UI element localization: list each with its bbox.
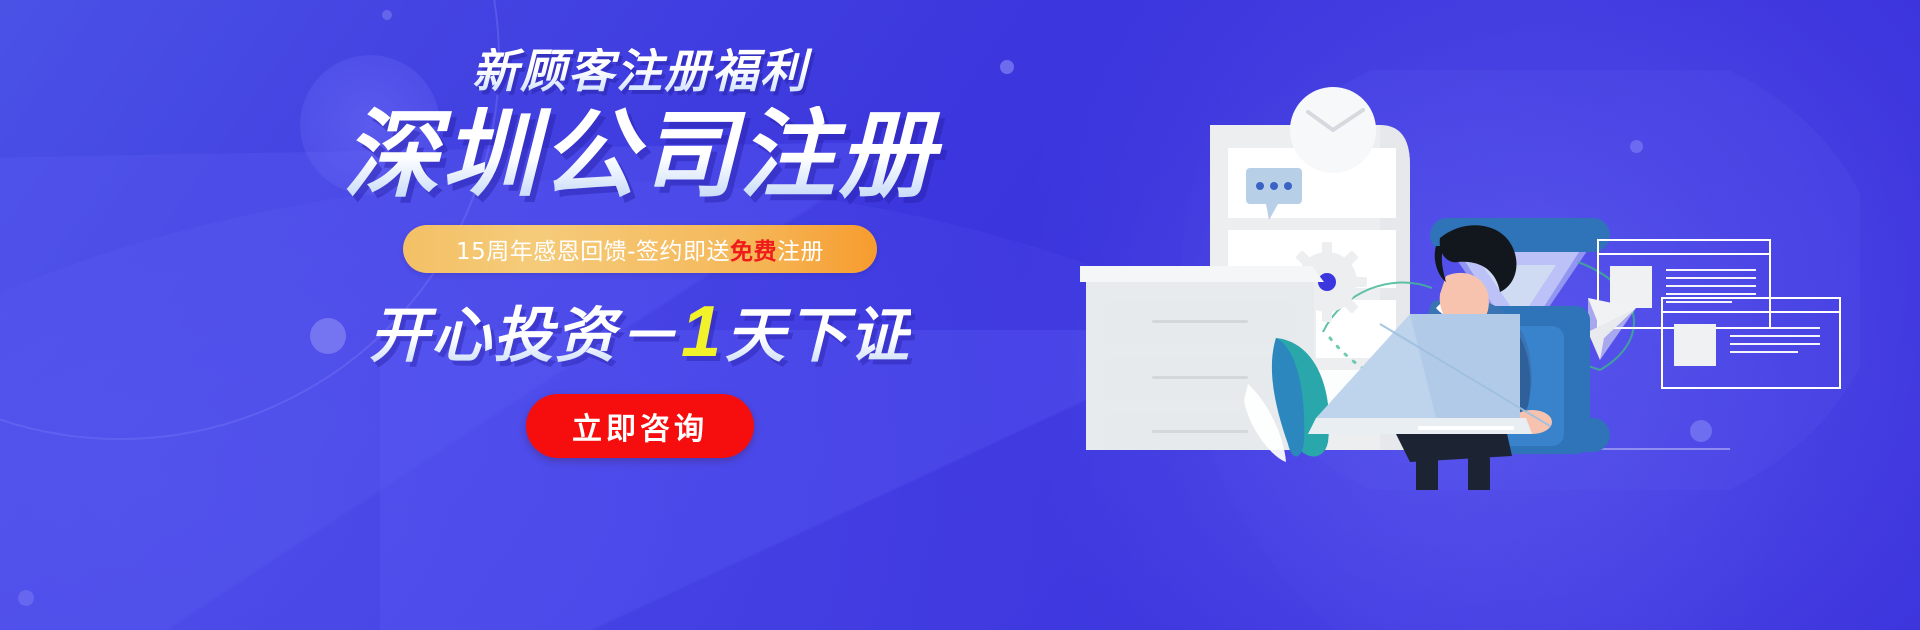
decorative-dot: [1000, 60, 1014, 74]
consult-now-button[interactable]: 立即咨询: [526, 394, 754, 458]
subheadline-number: 1: [679, 292, 725, 372]
page-title: 深圳公司注册: [330, 106, 950, 207]
subheadline-before: 开心投资－: [369, 302, 679, 369]
decorative-dot: [18, 590, 34, 606]
promo-pill-highlight: 免费: [730, 239, 777, 265]
banner-text-column: 新顾客注册福利 深圳公司注册 15周年感恩回馈-签约即送免费注册 开心投资－1天…: [330, 48, 950, 458]
kicker-text: 新顾客注册福利: [330, 48, 950, 94]
promo-pill-prefix: 15周年感恩回馈-签约即送: [456, 239, 730, 265]
promo-banner: 新顾客注册福利 深圳公司注册 15周年感恩回馈-签约即送免费注册 开心投资－1天…: [0, 0, 1920, 630]
subheadline: 开心投资－1天下证: [330, 293, 950, 372]
wall-clock-icon: [1290, 87, 1376, 173]
promo-pill-text: 15周年感恩回馈-签约即送免费注册: [456, 232, 824, 266]
decorative-dot: [382, 10, 392, 20]
subheadline-after: 天下证: [725, 302, 911, 369]
illustration-scene: [1080, 70, 1860, 490]
promo-pill: 15周年感恩回馈-签约即送免费注册: [403, 225, 877, 273]
promo-pill-suffix: 注册: [777, 239, 824, 265]
